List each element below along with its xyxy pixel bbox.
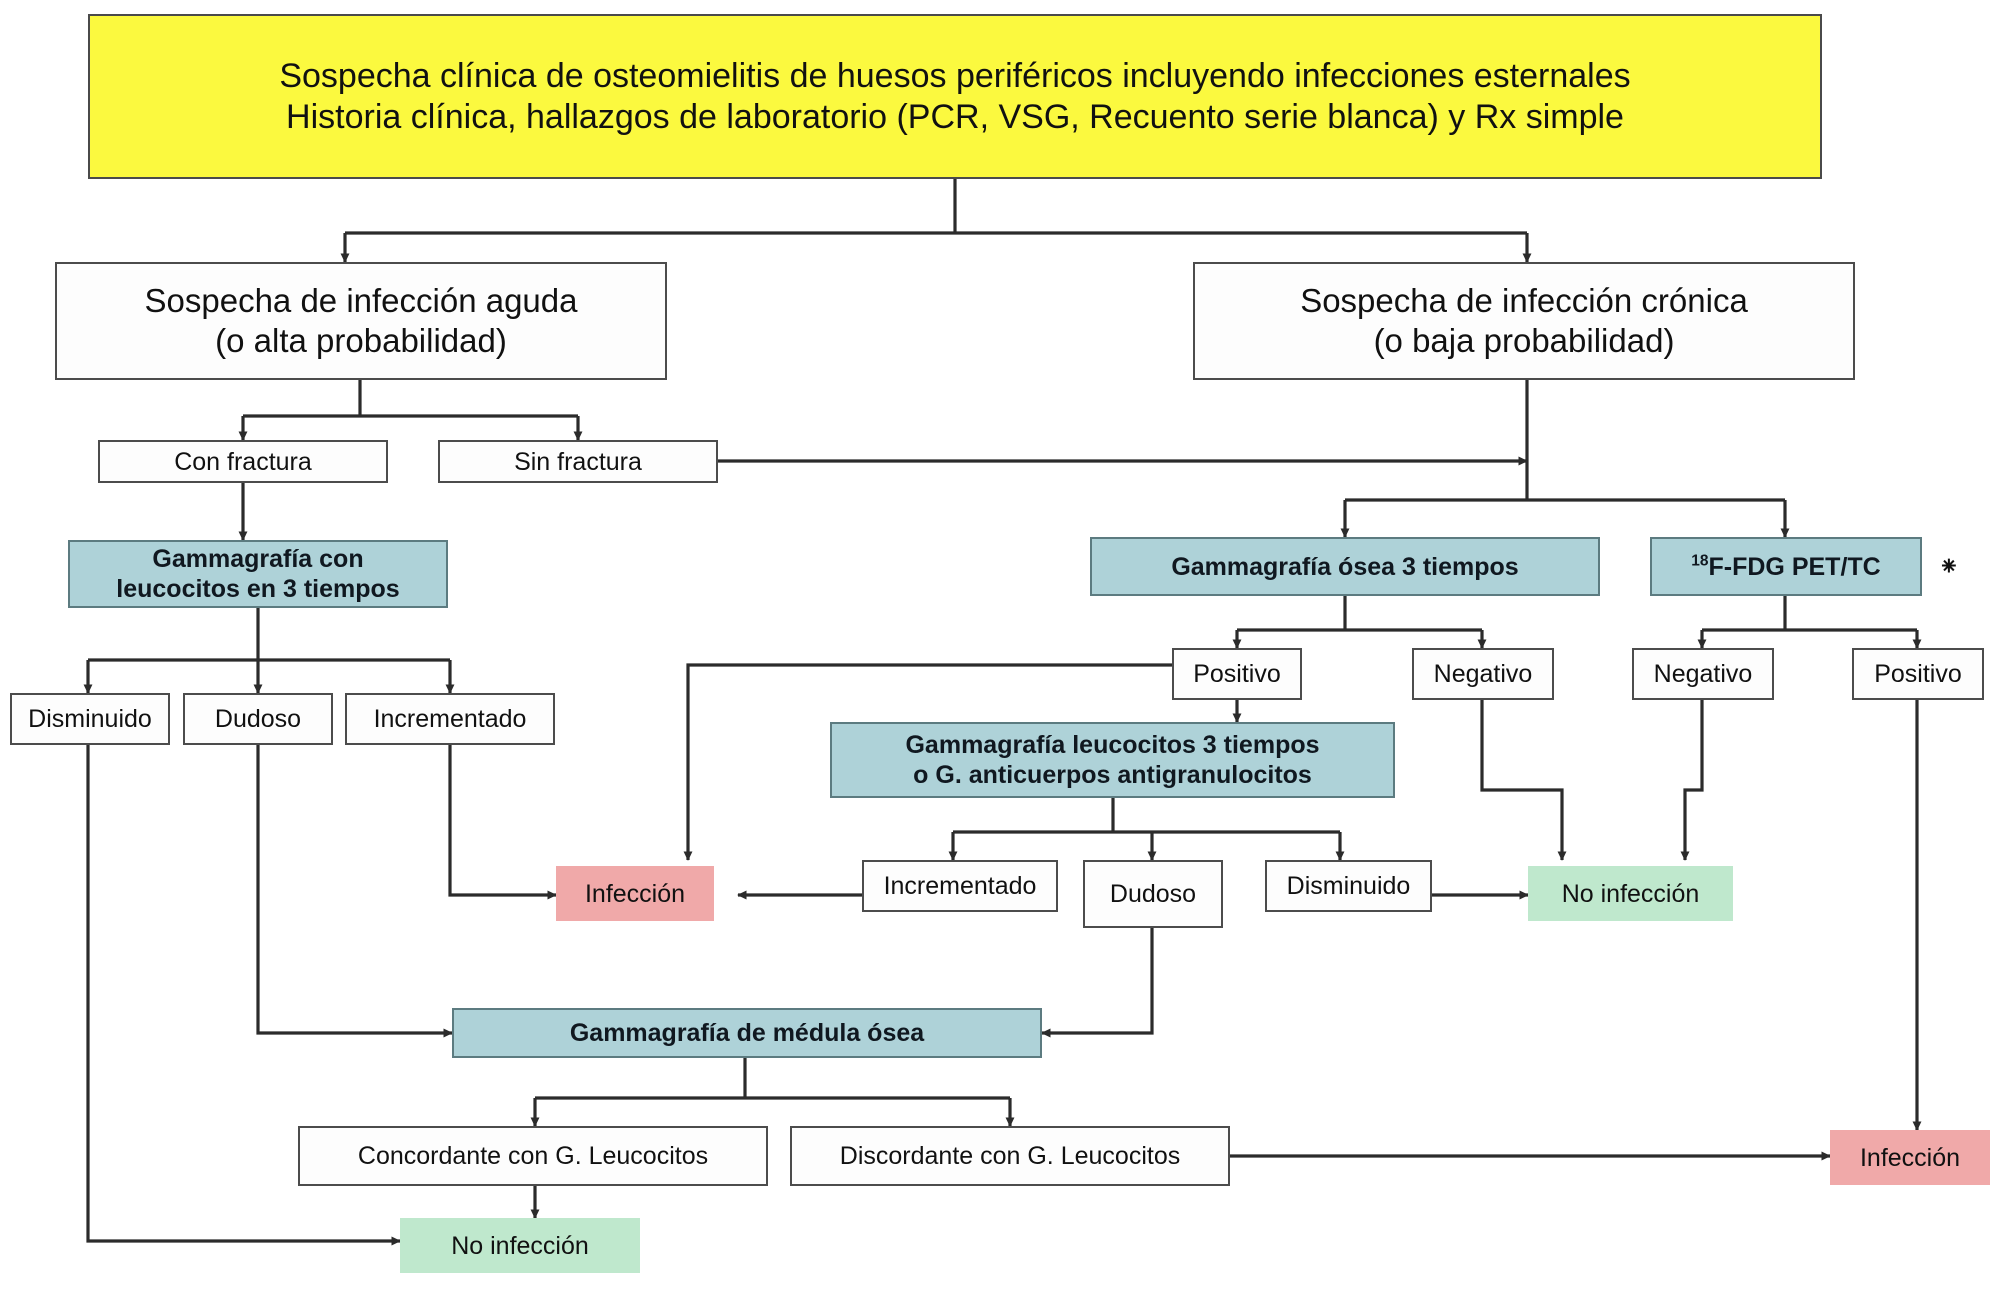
- node-with-fracture: Con fractura: [98, 440, 388, 483]
- node-bone-negative: Negativo: [1412, 648, 1554, 700]
- node-result-infection-right: Infección: [1830, 1130, 1990, 1185]
- node-marrow-concordant: Concordante con G. Leucocitos: [298, 1126, 768, 1186]
- pet-label: F-FDG PET/TC: [1709, 553, 1881, 581]
- acute-line-2: (o alta probabilidad): [215, 321, 507, 361]
- leuko-scan-line-1: Gammagrafía con: [152, 544, 363, 574]
- node-marrow-discordant: Discordante con G. Leucocitos: [790, 1126, 1230, 1186]
- node-second-decreased: Disminuido: [1265, 860, 1432, 912]
- node-leuko-or-antibody-scan: Gammagrafía leucocitos 3 tiempos o G. an…: [830, 722, 1395, 798]
- node-result-no-infection-bottom: No infección: [400, 1218, 640, 1273]
- title-line-1: Sospecha clínica de osteomielitis de hue…: [279, 56, 1630, 97]
- chronic-line-1: Sospecha de infección crónica: [1300, 281, 1748, 321]
- leuko-scan-line-2: leucocitos en 3 tiempos: [116, 574, 399, 604]
- node-without-fracture: Sin fractura: [438, 440, 718, 483]
- node-bone-scan-3phase: Gammagrafía ósea 3 tiempos: [1090, 537, 1600, 596]
- node-title-box: Sospecha clínica de osteomielitis de hue…: [88, 14, 1822, 179]
- node-leukocyte-scan-3phase: Gammagrafía con leucocitos en 3 tiempos: [68, 540, 448, 608]
- flowchart-canvas: Sospecha clínica de osteomielitis de hue…: [0, 0, 2000, 1315]
- node-pet-positive: Positivo: [1852, 648, 1984, 700]
- node-acute-suspicion: Sospecha de infección aguda (o alta prob…: [55, 262, 667, 380]
- node-pet-negative: Negativo: [1632, 648, 1774, 700]
- node-chronic-suspicion: Sospecha de infección crónica (o baja pr…: [1193, 262, 1855, 380]
- node-leuko-doubtful: Dudoso: [183, 693, 333, 745]
- node-leuko-decreased: Disminuido: [10, 693, 170, 745]
- node-second-increased: Incrementado: [862, 860, 1058, 912]
- node-fdg-pet-ct: 18F-FDG PET/TC: [1650, 537, 1922, 596]
- pet-superscript: 18: [1691, 552, 1708, 569]
- title-line-2: Historia clínica, hallazgos de laborator…: [286, 97, 1624, 138]
- node-bone-positive: Positivo: [1172, 648, 1302, 700]
- node-bone-marrow-scan: Gammagrafía de médula ósea: [452, 1008, 1042, 1058]
- node-second-doubtful: Dudoso: [1083, 860, 1223, 928]
- node-result-no-infection-mid: No infección: [1528, 866, 1733, 921]
- pet-footnote-asterisk-icon: ⁕: [1938, 551, 1960, 582]
- node-leuko-increased: Incrementado: [345, 693, 555, 745]
- leuko-antibody-line-2: o G. anticuerpos antigranulocitos: [913, 760, 1312, 790]
- chronic-line-2: (o baja probabilidad): [1374, 321, 1675, 361]
- leuko-antibody-line-1: Gammagrafía leucocitos 3 tiempos: [905, 730, 1319, 760]
- node-result-infection-mid: Infección: [556, 866, 714, 921]
- acute-line-1: Sospecha de infección aguda: [145, 281, 578, 321]
